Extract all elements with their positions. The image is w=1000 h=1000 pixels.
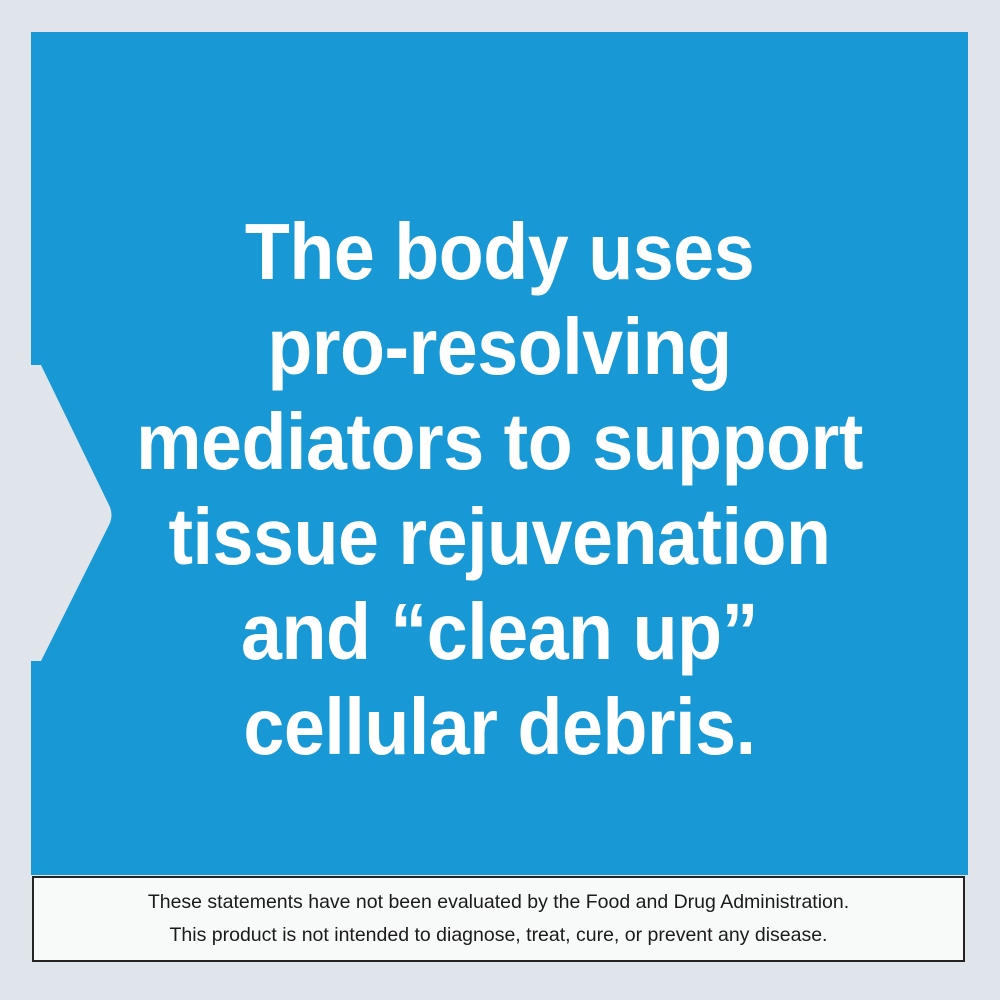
headline-line-5: and “clean up” [105, 584, 893, 679]
headline-line-4: tissue rejuvenation [105, 489, 893, 584]
headline-line-2: pro-resolving [105, 299, 893, 394]
headline-line-3: mediators to support [105, 394, 893, 489]
headline-line-6: cellular debris. [105, 679, 893, 774]
marketing-graphic-canvas: The body uses pro-resolving mediators to… [0, 0, 1000, 1000]
hero-panel: The body uses pro-resolving mediators to… [31, 32, 968, 875]
headline-line-1: The body uses [105, 204, 893, 299]
page-title: The body uses pro-resolving mediators to… [68, 204, 930, 774]
disclaimer-line-1: These statements have not been evaluated… [148, 886, 849, 919]
disclaimer-line-2: This product is not intended to diagnose… [170, 919, 828, 952]
fda-disclaimer-box: These statements have not been evaluated… [32, 876, 965, 962]
